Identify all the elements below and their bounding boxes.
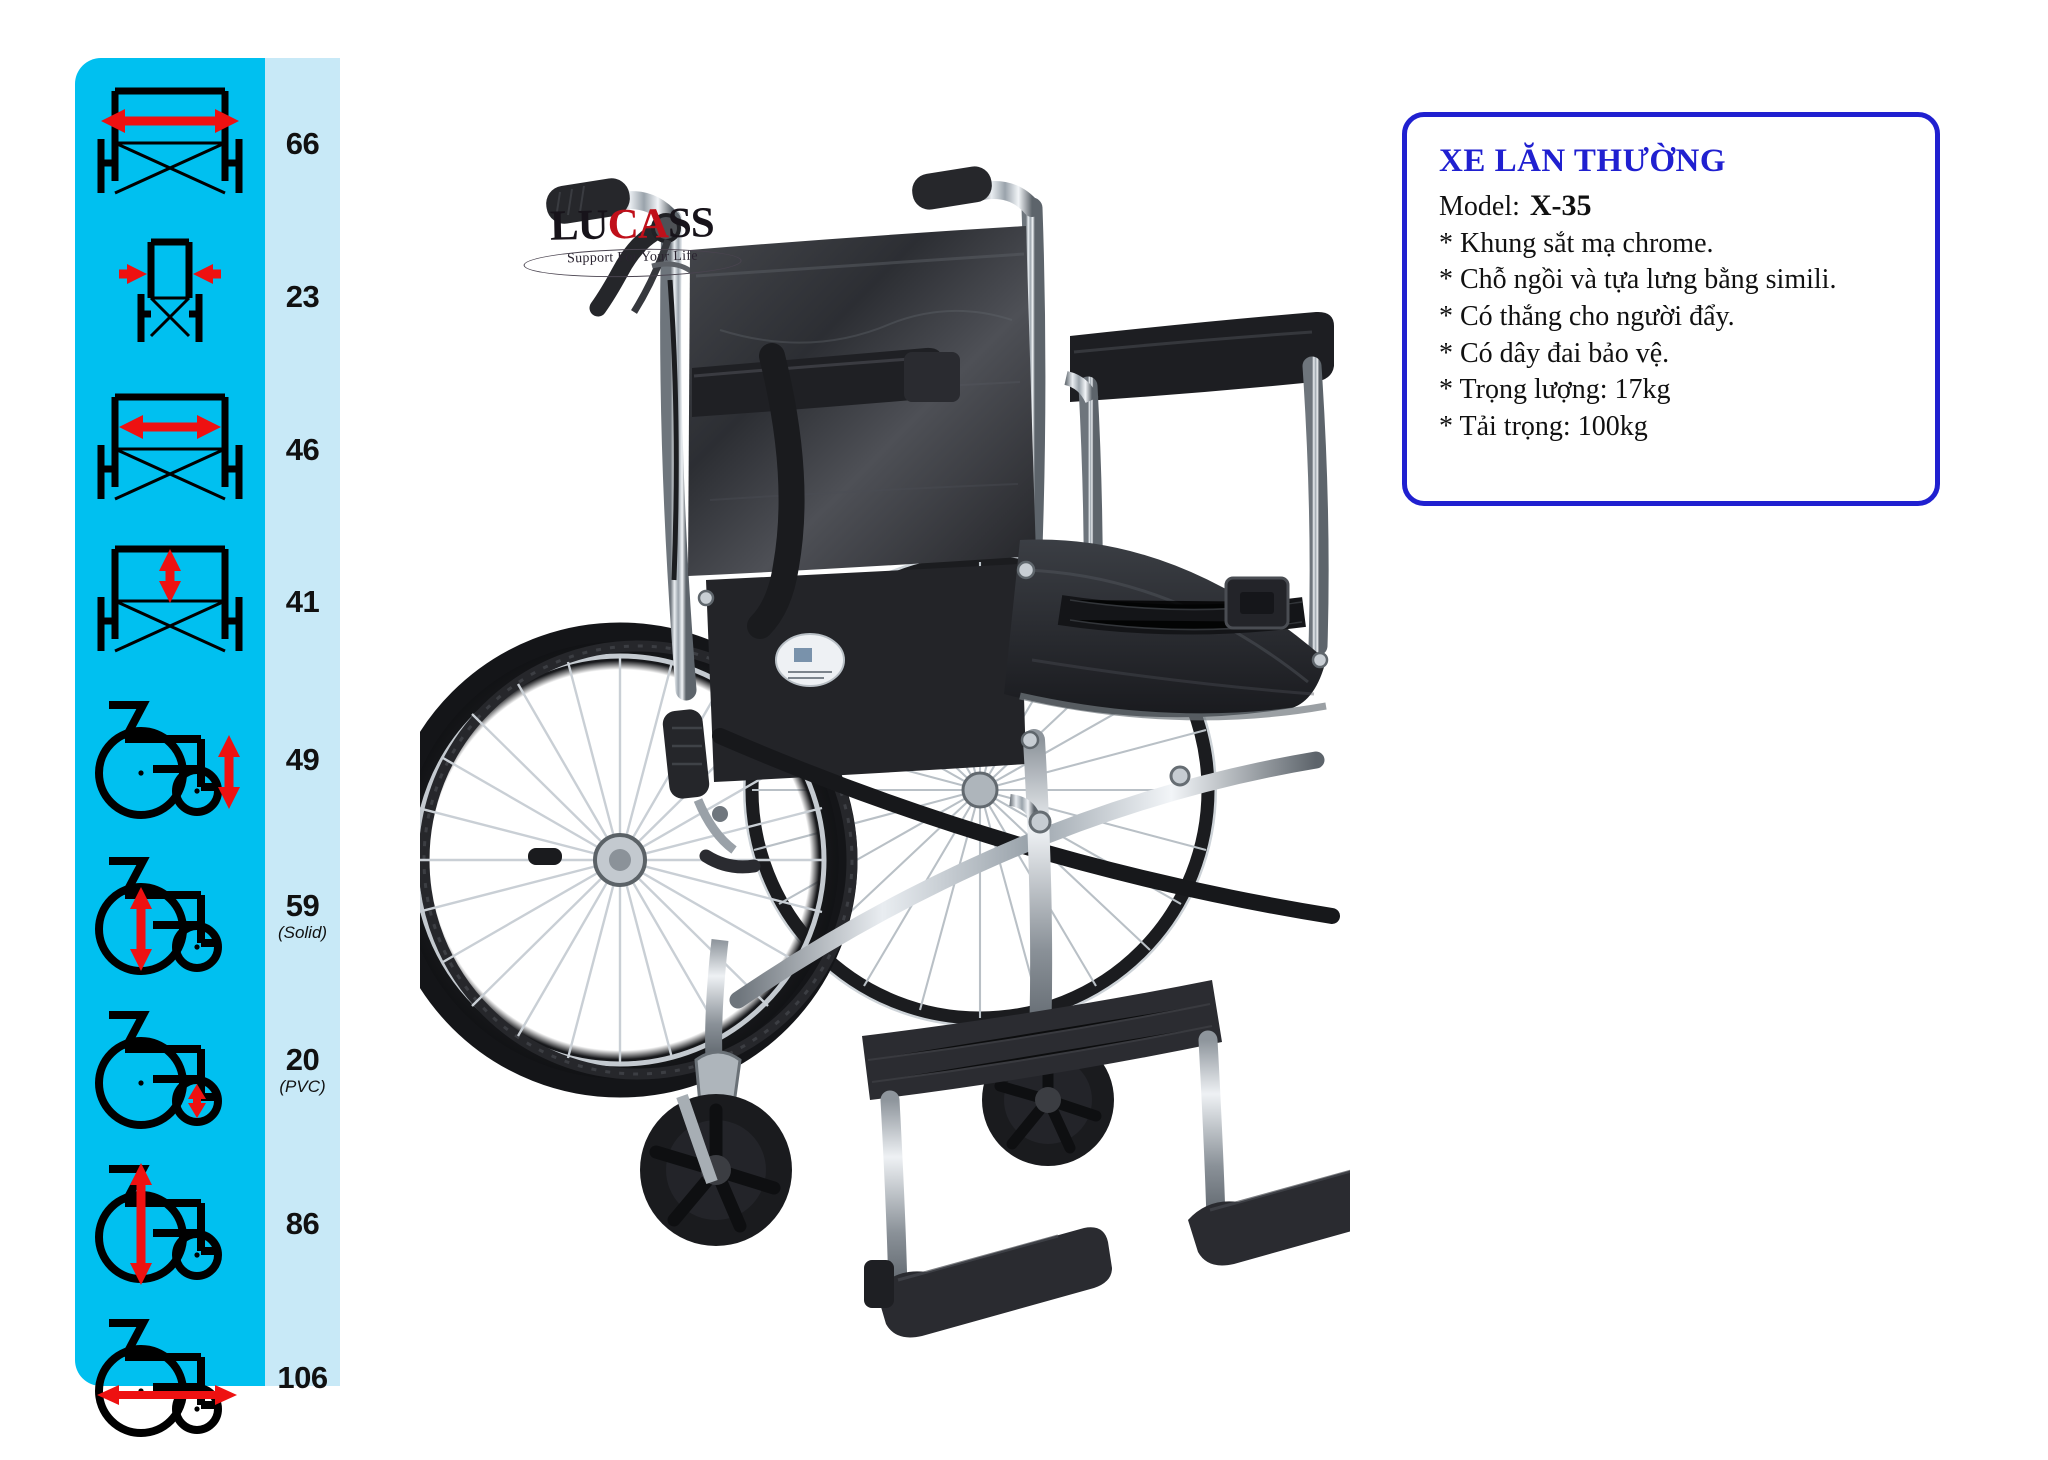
side-view-total-height-icon [75, 1155, 265, 1291]
dimension-value: 66 [265, 128, 340, 159]
rear-view-seat-width-icon [75, 383, 265, 515]
dimension-value: 46 [265, 434, 340, 465]
product-label-sticker [776, 634, 844, 686]
dimension-value: 49 [265, 744, 340, 775]
dimension-row: 106 [75, 1302, 340, 1452]
dimension-row: 49 [75, 684, 340, 834]
dimension-row: 66 [75, 68, 340, 218]
dimension-value: 23 [265, 281, 340, 312]
dimension-spec-panel: 66 23 [75, 58, 340, 1386]
product-title: XE LĂN THƯỜNG [1439, 143, 1935, 180]
dimension-row: 41 [75, 526, 340, 676]
dimension-number: 23 [265, 281, 340, 312]
model-value: X-35 [1530, 189, 1592, 222]
side-view-rear-wheel-icon [75, 847, 265, 983]
feature-item: * Có thắng cho người đẩy. [1439, 299, 1935, 336]
feature-item: * Trọng lượng: 17kg [1439, 372, 1935, 409]
dimension-number: 20 [265, 1044, 340, 1075]
dimension-row: 59 (Solid) [75, 840, 340, 990]
armrest-pad-right [1070, 312, 1334, 402]
push-handle-right [910, 164, 1032, 212]
model-label: Model: [1439, 191, 1520, 222]
dimension-number: 66 [265, 128, 340, 159]
wheelchair-product-photo: LUCASS Support For Your Life [420, 100, 1350, 1390]
dimension-number: 106 [265, 1362, 340, 1393]
dimension-note: (PVC) [265, 1078, 340, 1095]
dimension-number: 46 [265, 434, 340, 465]
dimension-row: 46 [75, 374, 340, 524]
feature-item: * Tải trọng: 100kg [1439, 409, 1935, 446]
rear-view-backrest-height-icon [75, 535, 265, 667]
product-model-line: Model:X-35 [1439, 186, 1935, 226]
feature-item: * Chỗ ngồi và tựa lưng bằng simili. [1439, 262, 1935, 299]
rear-view-folded-width-icon [75, 232, 265, 360]
dimension-row: 20 (PVC) [75, 994, 340, 1144]
dimension-note: (Solid) [265, 924, 340, 941]
dimension-value: 59 (Solid) [265, 890, 340, 941]
feature-item: * Khung sắt mạ chrome. [1439, 226, 1935, 263]
dimension-value: 41 [265, 586, 340, 617]
dimension-number: 59 [265, 890, 340, 921]
product-spec-box: XE LĂN THƯỜNG Model:X-35 * Khung sắt mạ … [1402, 112, 1940, 506]
side-view-seat-height-icon [75, 691, 265, 827]
dimension-value: 86 [265, 1208, 340, 1239]
dimension-row: 23 [75, 226, 340, 366]
dimension-number: 41 [265, 586, 340, 617]
dimension-value: 20 (PVC) [265, 1044, 340, 1095]
dimension-value: 106 [265, 1362, 340, 1393]
side-view-front-caster-icon [75, 1001, 265, 1137]
dimension-row: 86 [75, 1148, 340, 1298]
feature-item: * Có dây đai bảo vệ. [1439, 336, 1935, 373]
dimension-number: 86 [265, 1208, 340, 1239]
dimension-number: 49 [265, 744, 340, 775]
rear-view-overall-width-icon [75, 77, 265, 209]
push-handle-left [544, 176, 672, 227]
side-view-total-length-icon [75, 1309, 265, 1445]
